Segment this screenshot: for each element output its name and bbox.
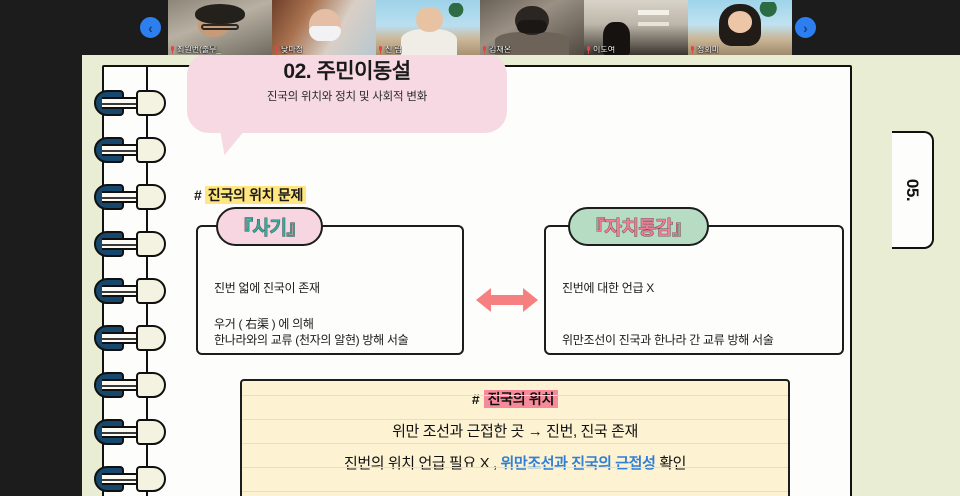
spiral-ring bbox=[94, 137, 166, 163]
slide-subtitle: 진국의 위치와 정치 및 사회적 변화 bbox=[201, 88, 493, 104]
participant-tile[interactable]: 김채온 bbox=[480, 0, 584, 55]
spiral-binding bbox=[94, 77, 170, 496]
microphone-muted-icon bbox=[586, 46, 591, 54]
participant-name: 낮마정 bbox=[281, 46, 303, 54]
source-detail-line: 위만조선이 진국과 한나라 간 교류 방해 서술 bbox=[562, 331, 774, 348]
participant-tile[interactable]: 정회미 bbox=[688, 0, 792, 55]
participant-tile[interactable]: 신 립 bbox=[376, 0, 480, 55]
source-card-jachitonggam: 『자치통감』 진번에 대한 언급 X 위만조선이 진국과 한나라 간 교류 방해… bbox=[544, 225, 844, 355]
participant-label: 최원번(출무_ bbox=[170, 46, 221, 54]
video-detail bbox=[309, 26, 340, 40]
slide-title-bubble: 02. 주민이동설 진국의 위치와 정치 및 사회적 변화 bbox=[187, 55, 507, 133]
video-detail bbox=[728, 11, 753, 33]
participant-label: 정회미 bbox=[690, 46, 719, 54]
video-detail bbox=[638, 10, 669, 16]
participant-tile[interactable]: 최원번(출무_ bbox=[168, 0, 272, 55]
participant-tile[interactable]: 낮마정 bbox=[272, 0, 376, 55]
chevron-right-icon: › bbox=[803, 20, 808, 36]
participant-label: 이도여 bbox=[586, 46, 615, 54]
microphone-muted-icon bbox=[690, 46, 695, 54]
participant-name: 최원번(출무_ bbox=[177, 46, 221, 54]
shared-slide[interactable]: #진국의 위치 문제 『사기』 진번 얿에 진국이 존재 우거 ( 右渠 ) 에… bbox=[82, 55, 960, 496]
spiral-ring bbox=[94, 90, 166, 116]
video-detail bbox=[401, 29, 457, 55]
participant-tile[interactable]: 이도여 bbox=[584, 0, 688, 55]
spiral-ring bbox=[94, 184, 166, 210]
video-detail bbox=[517, 20, 546, 33]
summary-card: # 진국의 위치 위만 조선과 근접한 곳 → 진번, 진국 존재 진번의 위치… bbox=[240, 379, 790, 496]
microphone-muted-icon bbox=[482, 46, 487, 54]
source-card-title-badge: 『사기』 bbox=[216, 207, 323, 246]
video-detail bbox=[416, 7, 443, 32]
video-detail bbox=[195, 4, 245, 24]
participant-label: 김채온 bbox=[482, 46, 511, 54]
comparison-arrow bbox=[476, 285, 538, 315]
source-detail-line: 한나라와의 교류 (천자의 알현) 방해 서술 bbox=[214, 331, 408, 348]
participant-name: 신 립 bbox=[385, 46, 402, 54]
double-arrow-icon bbox=[476, 285, 538, 315]
section-heading: #진국의 위치 문제 bbox=[194, 185, 306, 205]
participant-name: 정회미 bbox=[697, 46, 719, 54]
section-heading-text: 진국의 위치 문제 bbox=[205, 186, 306, 204]
source-detail-line: 진번 얿에 진국이 존재 bbox=[214, 279, 320, 296]
source-detail-line: 우거 ( 右渠 ) 에 의해 bbox=[214, 315, 314, 332]
microphone-muted-icon bbox=[170, 46, 175, 54]
participant-label: 신 립 bbox=[378, 46, 402, 54]
screen: 최원번(출무_ 낮마정 신 립 bbox=[0, 0, 960, 496]
source-detail-line: 진번에 대한 언급 X bbox=[562, 279, 654, 296]
spiral-ring bbox=[94, 466, 166, 492]
source-card-sagi: 『사기』 진번 얿에 진국이 존재 우거 ( 右渠 ) 에 의해 한나라와의 교… bbox=[196, 225, 464, 355]
spiral-ring bbox=[94, 419, 166, 445]
page-number-tab: 05. bbox=[892, 131, 934, 249]
filmstrip-next-button[interactable]: › bbox=[793, 15, 818, 40]
video-detail bbox=[201, 24, 238, 30]
participant-name: 김채온 bbox=[489, 46, 511, 54]
summary-line-1: 위만 조선과 근접한 곳 → 진번, 진국 존재 bbox=[242, 420, 788, 441]
page-number-text: 05. bbox=[902, 179, 922, 201]
source-title-jachitonggam: 『자치통감』 bbox=[586, 213, 691, 240]
participant-name: 이도여 bbox=[593, 46, 615, 54]
participant-label: 낮마정 bbox=[274, 46, 303, 54]
summary-line-2-part-a: 진번의 위치 언급 필요 X , bbox=[344, 455, 501, 472]
microphone-muted-icon bbox=[378, 46, 383, 54]
summary-line-2-emphasis: 위만조선과 진국의 근접성 bbox=[501, 455, 656, 472]
summary-line-2-part-c: 확인 bbox=[655, 455, 686, 472]
video-detail bbox=[638, 22, 669, 26]
source-card-title-badge: 『자치통감』 bbox=[568, 207, 709, 246]
source-title-sagi: 『사기』 bbox=[234, 213, 305, 240]
microphone-muted-icon bbox=[274, 46, 279, 54]
hash-marker: # bbox=[472, 391, 480, 407]
summary-heading-text: 진국의 위치 bbox=[484, 390, 559, 408]
filmstrip-prev-button[interactable]: ‹ bbox=[138, 15, 163, 40]
spiral-ring bbox=[94, 231, 166, 257]
hash-marker: # bbox=[194, 187, 202, 203]
summary-line-2: 진번의 위치 언급 필요 X , 위만조선과 진국의 근접성 확인 bbox=[242, 452, 788, 473]
slide-title: 02. 주민이동설 bbox=[201, 59, 493, 84]
participant-filmstrip: 최원번(출무_ 낮마정 신 립 bbox=[168, 0, 792, 55]
spiral-ring bbox=[94, 278, 166, 304]
spiral-ring bbox=[94, 325, 166, 351]
spiral-ring bbox=[94, 372, 166, 398]
chevron-left-icon: ‹ bbox=[148, 20, 153, 36]
summary-heading: # 진국의 위치 bbox=[242, 389, 788, 409]
